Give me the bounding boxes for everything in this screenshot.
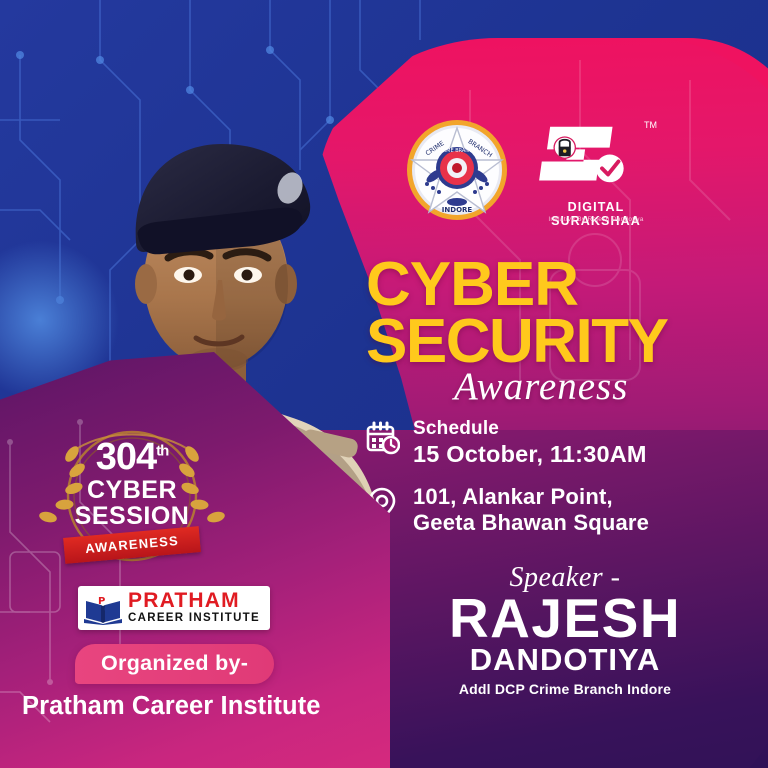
badge-ordinal: th <box>156 442 168 459</box>
headline-awareness-script: Awareness <box>454 364 746 409</box>
svg-text:INDORE: INDORE <box>442 206 473 214</box>
schedule-row: Schedule 15 October, 11:30AM <box>366 418 736 468</box>
organized-by-pill: Organized by- <box>75 644 274 684</box>
digital-surakshaa-subtitle: Initiative By Rajesh Dandotiya <box>531 216 661 223</box>
poster-canvas: पुलिस अधीक्षक RAJESH DANDOTIYA <box>0 0 768 768</box>
speaker-block: Speaker - RAJESH DANDOTIYA Addl DCP Crim… <box>400 562 730 697</box>
schedule-value: 15 October, 11:30AM <box>413 440 647 468</box>
headline-cyber: CYBER <box>366 256 746 313</box>
digital-surakshaa-logo: TM DIGITAL SURAKSHAA Initiative By Rajes… <box>531 118 651 230</box>
crime-branch-indore-emblem-icon: CRIME BRANCH CRIME BRANCH INDORE <box>405 118 509 222</box>
badge-line-cyber: CYBER <box>38 477 226 503</box>
pratham-name: PRATHAM <box>128 590 264 611</box>
schedule-label: Schedule <box>413 418 647 440</box>
awareness-ribbon: AWARENESS <box>50 528 214 562</box>
speaker-first-name: RAJESH <box>400 592 730 644</box>
badge-text: 304th CYBER SESSION <box>38 438 226 530</box>
calendar-clock-icon <box>366 421 400 455</box>
organizer-name: Pratham Career Institute <box>22 692 342 721</box>
pratham-career-institute-logo: P C PRATHAM CAREER INSTITUTE <box>78 586 270 630</box>
pratham-book-icon: P C <box>84 591 122 625</box>
pratham-tagline: CAREER INSTITUTE <box>128 612 264 626</box>
headline-security: SECURITY <box>366 313 746 370</box>
location-line2: Geeta Bhawan Square <box>413 510 649 536</box>
badge-number-value: 304 <box>96 436 156 478</box>
pratham-wordmark: PRATHAM CAREER INSTITUTE <box>128 590 264 626</box>
logo-group: CRIME BRANCH CRIME BRANCH INDORE TM DIGI… <box>405 118 651 230</box>
location-row: 101, Alankar Point, Geeta Bhawan Square <box>366 484 736 537</box>
location-line1: 101, Alankar Point, <box>413 484 649 510</box>
trademark-symbol: TM <box>644 120 657 130</box>
speaker-last-name: DANDOTIYA <box>400 644 730 677</box>
digital-surakshaa-name: DIGITAL SURAKSHAA <box>531 200 661 228</box>
page-title: CYBER SECURITY Awareness <box>366 256 746 409</box>
speaker-role: Addl DCP Crime Branch Indore <box>400 681 730 697</box>
session-badge: 304th CYBER SESSION AWARENESS <box>38 424 226 570</box>
svg-text:CRIME BRANCH: CRIME BRANCH <box>438 148 477 154</box>
event-details: Schedule 15 October, 11:30AM 101, Alanka… <box>366 418 736 553</box>
svg-text:C: C <box>104 603 112 616</box>
badge-session-number: 304th <box>38 438 226 476</box>
